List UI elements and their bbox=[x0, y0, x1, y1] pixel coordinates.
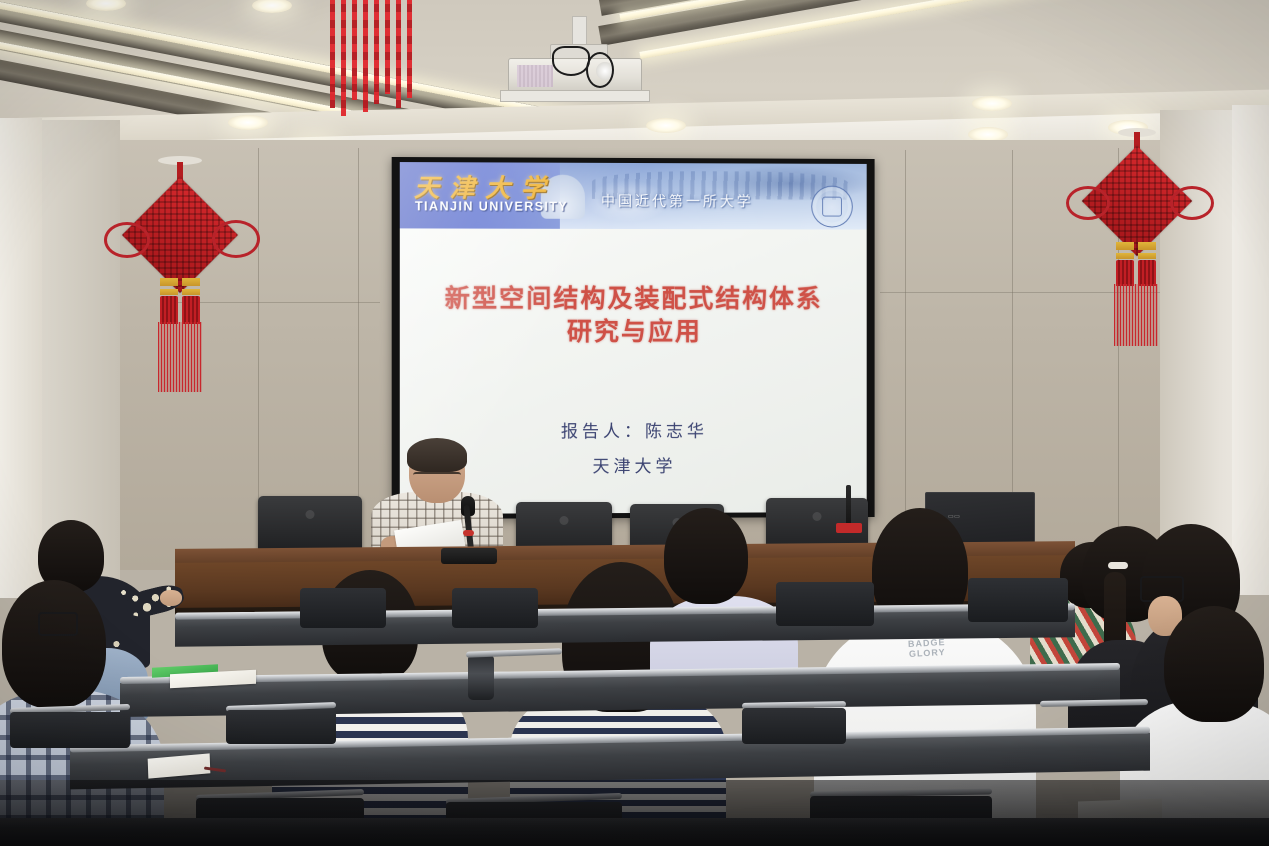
folding-seat[interactable] bbox=[300, 588, 386, 628]
knot-side-loop bbox=[212, 220, 260, 258]
knot-tassel bbox=[182, 296, 200, 324]
knot-tassel bbox=[1138, 260, 1156, 286]
red-ceiling-ribbon bbox=[407, 0, 412, 98]
red-ceiling-ribbon bbox=[374, 0, 379, 104]
knot-tassel-band bbox=[160, 278, 178, 286]
projector-vent bbox=[517, 65, 553, 87]
foreground-shadow bbox=[0, 780, 1269, 846]
slide-presenter-name: 报告人：陈志华 bbox=[400, 415, 867, 451]
red-ceiling-ribbon bbox=[341, 0, 346, 116]
slide-title: 新型空间结构及装配式结构体系 研究与应用 bbox=[400, 283, 867, 349]
folding-seat[interactable] bbox=[742, 708, 846, 744]
knot-side-loop bbox=[1066, 186, 1110, 220]
wall-seam bbox=[905, 150, 906, 560]
knot-tassel-band bbox=[1116, 242, 1134, 250]
drinking-cup[interactable] bbox=[468, 656, 494, 700]
slide-affiliation: 天津大学 bbox=[400, 449, 867, 485]
attendee-hand bbox=[160, 590, 182, 606]
hair-tie bbox=[1108, 562, 1128, 569]
recessed-downlight bbox=[646, 118, 686, 133]
right-wall-column bbox=[1232, 105, 1269, 595]
university-motto: 中国近代第一所大学 bbox=[601, 191, 754, 211]
red-ceiling-ribbon bbox=[396, 0, 401, 108]
attendee-head bbox=[2, 580, 106, 708]
chinese-knot-left bbox=[108, 156, 252, 406]
red-ceiling-ribbon bbox=[352, 0, 357, 100]
university-seal-icon bbox=[811, 186, 853, 228]
chinese-knot-right bbox=[1068, 128, 1206, 374]
folding-seat[interactable] bbox=[10, 712, 130, 748]
lecture-hall-photo: 天 津 大 学 TIANJIN UNIVERSITY 中国近代第一所大学 新型空… bbox=[0, 0, 1269, 846]
folding-seat[interactable] bbox=[452, 588, 538, 628]
knot-side-loop bbox=[1170, 186, 1214, 220]
red-ceiling-ribbon bbox=[363, 0, 368, 112]
attendee-head bbox=[1164, 606, 1264, 722]
left-wall-column bbox=[0, 118, 42, 598]
red-ceiling-ribbon bbox=[330, 0, 335, 108]
knot-fringe bbox=[1114, 284, 1158, 346]
knot-tassel bbox=[1116, 260, 1134, 286]
knot-tassel-band bbox=[182, 278, 200, 286]
glasses-icon bbox=[38, 612, 78, 636]
microphone-indicator-ring bbox=[463, 530, 474, 536]
red-ceiling-ribbon bbox=[385, 0, 390, 94]
knot-tassel-band bbox=[182, 289, 200, 295]
projection-screen: 天 津 大 学 TIANJIN UNIVERSITY 中国近代第一所大学 新型空… bbox=[400, 162, 867, 514]
folding-seat[interactable] bbox=[776, 582, 874, 626]
knot-tassel-band bbox=[1138, 253, 1156, 259]
laptop-brand-mark: ▭▭ bbox=[948, 513, 960, 520]
slide-presenter-block: 报告人：陈志华 天津大学 bbox=[400, 415, 867, 486]
knot-tassel bbox=[160, 296, 178, 324]
folding-seat-rail[interactable] bbox=[466, 648, 562, 657]
folding-seat[interactable] bbox=[226, 710, 336, 744]
slide-title-line1: 新型空间结构及装配式结构体系 bbox=[400, 283, 867, 316]
slide-banner: 天 津 大 学 TIANJIN UNIVERSITY 中国近代第一所大学 bbox=[400, 162, 867, 230]
slide-title-line2: 研究与应用 bbox=[400, 316, 867, 349]
gooseneck-microphone-base bbox=[441, 548, 497, 564]
projector-cable bbox=[586, 52, 614, 88]
knot-tassel-band bbox=[1138, 242, 1156, 250]
presenter-hair bbox=[407, 438, 467, 472]
attendee-head bbox=[664, 508, 748, 604]
knot-fringe bbox=[158, 322, 202, 392]
knot-tassel-band bbox=[160, 289, 178, 295]
projector-base-plate bbox=[500, 90, 650, 102]
projector-cable bbox=[552, 46, 590, 76]
podium-microphone bbox=[846, 485, 851, 525]
university-logo-en: TIANJIN UNIVERSITY bbox=[415, 199, 568, 214]
knot-side-loop bbox=[104, 222, 150, 258]
folding-seat[interactable] bbox=[968, 578, 1068, 622]
glasses-icon bbox=[413, 472, 461, 484]
knot-tassel-band bbox=[1116, 253, 1134, 259]
recessed-downlight bbox=[972, 96, 1012, 111]
recessed-downlight bbox=[228, 115, 268, 130]
podium-microphone-base bbox=[836, 523, 862, 533]
tee-graphic-text: BADGE GLORY bbox=[897, 636, 956, 660]
